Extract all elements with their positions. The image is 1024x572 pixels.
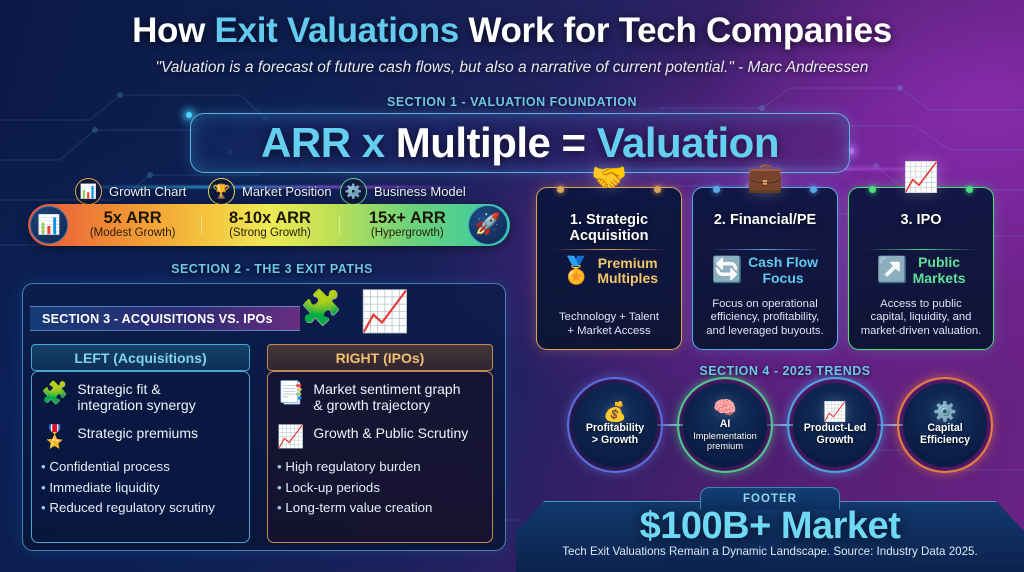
exit-path-highlight: 🏅 Premium Multiples [544, 255, 674, 286]
divider [865, 249, 977, 250]
money-bag-icon: 💰 [603, 403, 627, 422]
gears-icon: ⚙️ [340, 178, 367, 205]
exit-path-card-ipo[interactable]: 📈 3. IPO ↗️ Public Markets Access to pub… [848, 187, 994, 350]
title-pre: How [132, 11, 214, 50]
list-item: 📑 Market sentiment graph & growth trajec… [268, 381, 492, 413]
node-right [810, 186, 817, 193]
growth-chart-icon: 📈 [903, 161, 939, 195]
rocket-icon: 🚀 [468, 205, 508, 245]
trend-circle-ai[interactable]: 🧠 AI Implementation premium [683, 383, 767, 467]
product-growth-icon: 📈 [823, 403, 847, 422]
ipos-bullet-list: High regulatory burden Lock-up periods L… [268, 457, 492, 518]
section-4-label: SECTION 4 - 2025 TRENDS [560, 364, 1010, 378]
node-left [557, 186, 564, 193]
divider [553, 249, 665, 250]
cash-flow-cycle-icon: 🔄 [712, 256, 743, 285]
list-item: High regulatory burden [277, 457, 483, 477]
ring [567, 377, 663, 473]
equation-multiple: Multiple [396, 119, 551, 166]
upward-arrow-icon: ↗️ [876, 256, 907, 285]
infographic-canvas: How Exit Valuations Work for Tech Compan… [0, 0, 1024, 572]
right-column-heading: RIGHT (IPOs) [267, 344, 493, 371]
subtitle-quote: "Valuation is a forecast of future cash … [0, 59, 1024, 77]
list-item: Confidential process [41, 457, 240, 477]
list-item: 🧩 Strategic fit & integration synergy [32, 381, 249, 413]
medal-icon: 🏅 [560, 255, 592, 286]
exit-path-highlight-label: Premium Multiples [597, 256, 658, 287]
exit-path-highlight-label: Public Markets [913, 255, 966, 286]
handshake-icon: 🤝 [591, 161, 627, 195]
title-post: Work for Tech Companies [459, 11, 892, 50]
title-highlight: Exit Valuations [214, 11, 458, 50]
footer-headline: $100B+ Market [516, 505, 1024, 548]
left-column-heading: LEFT (Acquisitions) [31, 344, 250, 371]
arr-value-3: 15x+ ARR [339, 210, 476, 227]
ring [897, 377, 993, 473]
arr-sub-3: (Hypergrowth) [339, 227, 476, 240]
feature-text: Market sentiment graph & growth trajecto… [313, 381, 460, 413]
page-title: How Exit Valuations Work for Tech Compan… [0, 11, 1024, 51]
exit-path-card-strategic-acquisition[interactable]: 🤝 1. Strategic Acquisition 🏅 Premium Mul… [536, 187, 682, 350]
ipos-column: 📑 Market sentiment graph & growth trajec… [267, 371, 493, 543]
trophy-icon: 🏆 [208, 178, 235, 205]
bar-chart-icon: 📊 [30, 206, 68, 244]
equation-equals: = [550, 119, 596, 166]
exit-path-highlight: 🔄 Cash Flow Focus [700, 255, 830, 286]
arr-value-2: 8-10x ARR [201, 210, 338, 227]
award-ribbon-icon: 🎖️ [41, 426, 68, 448]
list-item: 🎖️ Strategic premiums [32, 425, 249, 448]
list-item: Lock-up periods [277, 478, 483, 498]
glow-dot-1 [186, 112, 192, 118]
growth-chart-decoration-icon: 📈 [360, 288, 410, 335]
ring [787, 377, 883, 473]
node-right [966, 186, 973, 193]
exit-path-card-financial-pe[interactable]: 💼 2. Financial/PE 🔄 Cash Flow Focus Focu… [692, 187, 838, 350]
trend-circle-product-led[interactable]: 📈 Product-Led Growth [793, 383, 877, 467]
feature-text: Strategic premiums [77, 425, 198, 441]
ring [677, 377, 773, 473]
exit-path-title: 3. IPO [900, 212, 941, 228]
factor-market-position: 🏆 Market Position [208, 178, 332, 205]
ai-brain-icon: 🧠 [713, 399, 737, 418]
factor-growth-chart: 📊 Growth Chart [75, 178, 186, 205]
section-3-label: SECTION 3 - ACQUISITIONS VS. IPOs [42, 312, 273, 326]
footer-note: Tech Exit Valuations Remain a Dynamic La… [516, 545, 1024, 558]
factor-label-growth-chart: Growth Chart [109, 184, 186, 199]
list-item: Long-term value creation [277, 498, 483, 518]
trend-circle-profitability[interactable]: 💰 Profitability > Growth [573, 383, 657, 467]
divider [709, 249, 821, 250]
exit-path-highlight: ↗️ Public Markets [856, 255, 986, 286]
arr-segment-2: 8-10x ARR (Strong Growth) [201, 210, 338, 240]
documents-icon: 📑 [277, 382, 304, 404]
puzzle-icon: 🧩 [41, 382, 68, 404]
node-right [654, 186, 661, 193]
trend-circle-capital-efficiency[interactable]: ⚙️ Capital Efficiency [903, 383, 987, 467]
node-left [713, 186, 720, 193]
node-left [869, 186, 876, 193]
exit-path-title: 1. Strategic Acquisition [570, 212, 649, 244]
exit-path-title: 2. Financial/PE [714, 212, 816, 228]
feature-text: Strategic fit & integration synergy [77, 381, 195, 413]
puzzle-decoration-icon: 🧩 [300, 288, 342, 328]
section-3-header-bar: SECTION 3 - ACQUISITIONS VS. IPOs [30, 306, 300, 331]
acquisitions-bullet-list: Confidential process Immediate liquidity… [32, 457, 249, 518]
list-item: Immediate liquidity [41, 478, 240, 498]
growth-chart-icon: 📈 [277, 426, 304, 448]
arr-sub-1: (Modest Growth) [64, 227, 201, 240]
arr-multiple-gradient-bar: 5x ARR (Modest Growth) 8-10x ARR (Strong… [28, 204, 510, 246]
feature-text: Growth & Public Scrutiny [313, 425, 468, 441]
gear-money-icon: ⚙️ [933, 403, 957, 422]
list-item: Reduced regulatory scrutiny [41, 498, 240, 518]
section-2-label: SECTION 2 - THE 3 EXIT PATHS [22, 262, 522, 276]
factor-business-model: ⚙️ Business Model [340, 178, 466, 205]
equation-arr: ARR x [261, 119, 396, 166]
briefcase-icon: 💼 [747, 161, 783, 195]
exit-path-desc: Access to public capital, liquidity, and… [861, 298, 982, 339]
arr-value-1: 5x ARR [64, 210, 201, 227]
footer-tab-label: FOOTER [743, 493, 797, 505]
section-1-label: SECTION 1 - VALUATION FOUNDATION [0, 95, 1024, 109]
acquisitions-column: 🧩 Strategic fit & integration synergy 🎖️… [31, 371, 250, 543]
exit-path-desc: Focus on operational efficiency, profita… [706, 298, 823, 339]
equation-valuation: Valuation [597, 119, 779, 166]
equation-text: ARR x Multiple = Valuation [261, 119, 779, 167]
exit-path-highlight-label: Cash Flow Focus [748, 255, 818, 286]
factor-label-business-model: Business Model [374, 184, 466, 199]
list-item: 📈 Growth & Public Scrutiny [268, 425, 492, 448]
exit-path-desc: Technology + Talent + Market Access [559, 311, 659, 339]
growth-chart-icon: 📊 [75, 178, 102, 205]
factor-label-market-position: Market Position [242, 184, 332, 199]
arr-sub-2: (Strong Growth) [201, 227, 338, 240]
